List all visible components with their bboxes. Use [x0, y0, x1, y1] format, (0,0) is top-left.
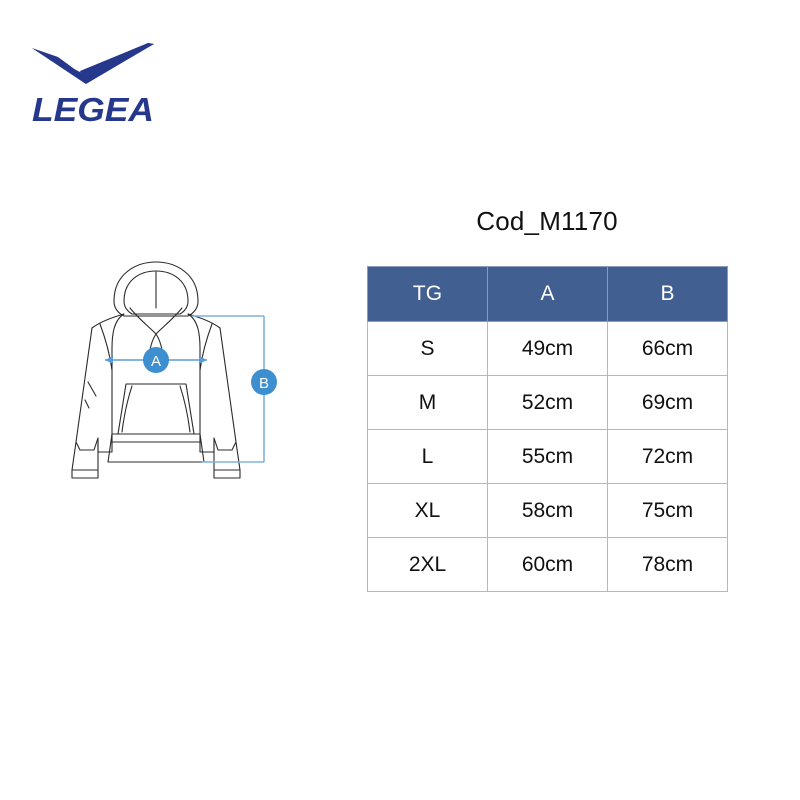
cuff-left [72, 442, 98, 470]
table-row: 2XL 60cm 78cm [368, 538, 728, 592]
table-row: M 52cm 69cm [368, 376, 728, 430]
column-header-a: A [488, 267, 608, 322]
column-header-tg: TG [368, 267, 488, 322]
table-row: L 55cm 72cm [368, 430, 728, 484]
table-row: XL 58cm 75cm [368, 484, 728, 538]
measure-badge-b: B [251, 369, 277, 395]
right-sleeve-outline [188, 314, 236, 452]
pocket-opening-left [122, 386, 132, 432]
cuff-left-band [72, 470, 98, 478]
legea-swoosh-icon [28, 38, 158, 90]
table-body: S 49cm 66cm M 52cm 69cm L 55cm 72cm XL 5… [368, 322, 728, 592]
hood-collar-right [156, 308, 182, 334]
measure-badge-a-label: A [151, 353, 161, 370]
cell-size: S [368, 322, 488, 376]
pocket-opening-right [180, 386, 190, 432]
table-header-row: TG A B [368, 267, 728, 322]
cell-measure-b: 66cm [608, 322, 728, 376]
pocket-outline [118, 384, 194, 434]
table-row: S 49cm 66cm [368, 322, 728, 376]
cell-measure-a: 60cm [488, 538, 608, 592]
sleeve-crease-upper [88, 382, 96, 396]
cuff-right [214, 442, 240, 470]
body-outline [112, 314, 200, 442]
cell-size: XL [368, 484, 488, 538]
cell-measure-a: 55cm [488, 430, 608, 484]
shoulder-seam-left [100, 324, 112, 370]
left-sleeve-outline [76, 314, 124, 452]
measure-badge-b-label: B [259, 375, 269, 392]
cell-size: M [368, 376, 488, 430]
column-header-b: B [608, 267, 728, 322]
cell-measure-a: 49cm [488, 322, 608, 376]
cell-measure-b: 72cm [608, 430, 728, 484]
cuff-right-band [214, 470, 240, 478]
cell-measure-a: 58cm [488, 484, 608, 538]
cell-size: 2XL [368, 538, 488, 592]
cell-measure-b: 78cm [608, 538, 728, 592]
cell-measure-b: 75cm [608, 484, 728, 538]
brand-name-text: LEGEA [32, 91, 154, 128]
brand-logo: LEGEA [28, 38, 158, 130]
size-chart-table: TG A B S 49cm 66cm M 52cm 69cm L 55cm 72… [367, 266, 728, 592]
size-chart-table-wrap: TG A B S 49cm 66cm M 52cm 69cm L 55cm 72… [367, 266, 727, 592]
sleeve-crease-lower [85, 400, 89, 408]
cell-size: L [368, 430, 488, 484]
cell-measure-a: 52cm [488, 376, 608, 430]
cell-measure-b: 69cm [608, 376, 728, 430]
hem-band [108, 434, 204, 462]
brand-wordmark: LEGEA [30, 90, 158, 130]
shoulder-seam-right [200, 324, 212, 370]
measure-badge-a: A [143, 347, 169, 373]
hoodie-illustration: A B [52, 256, 302, 506]
hood-collar-left [130, 308, 156, 334]
page-title: Cod_M1170 [367, 206, 727, 237]
